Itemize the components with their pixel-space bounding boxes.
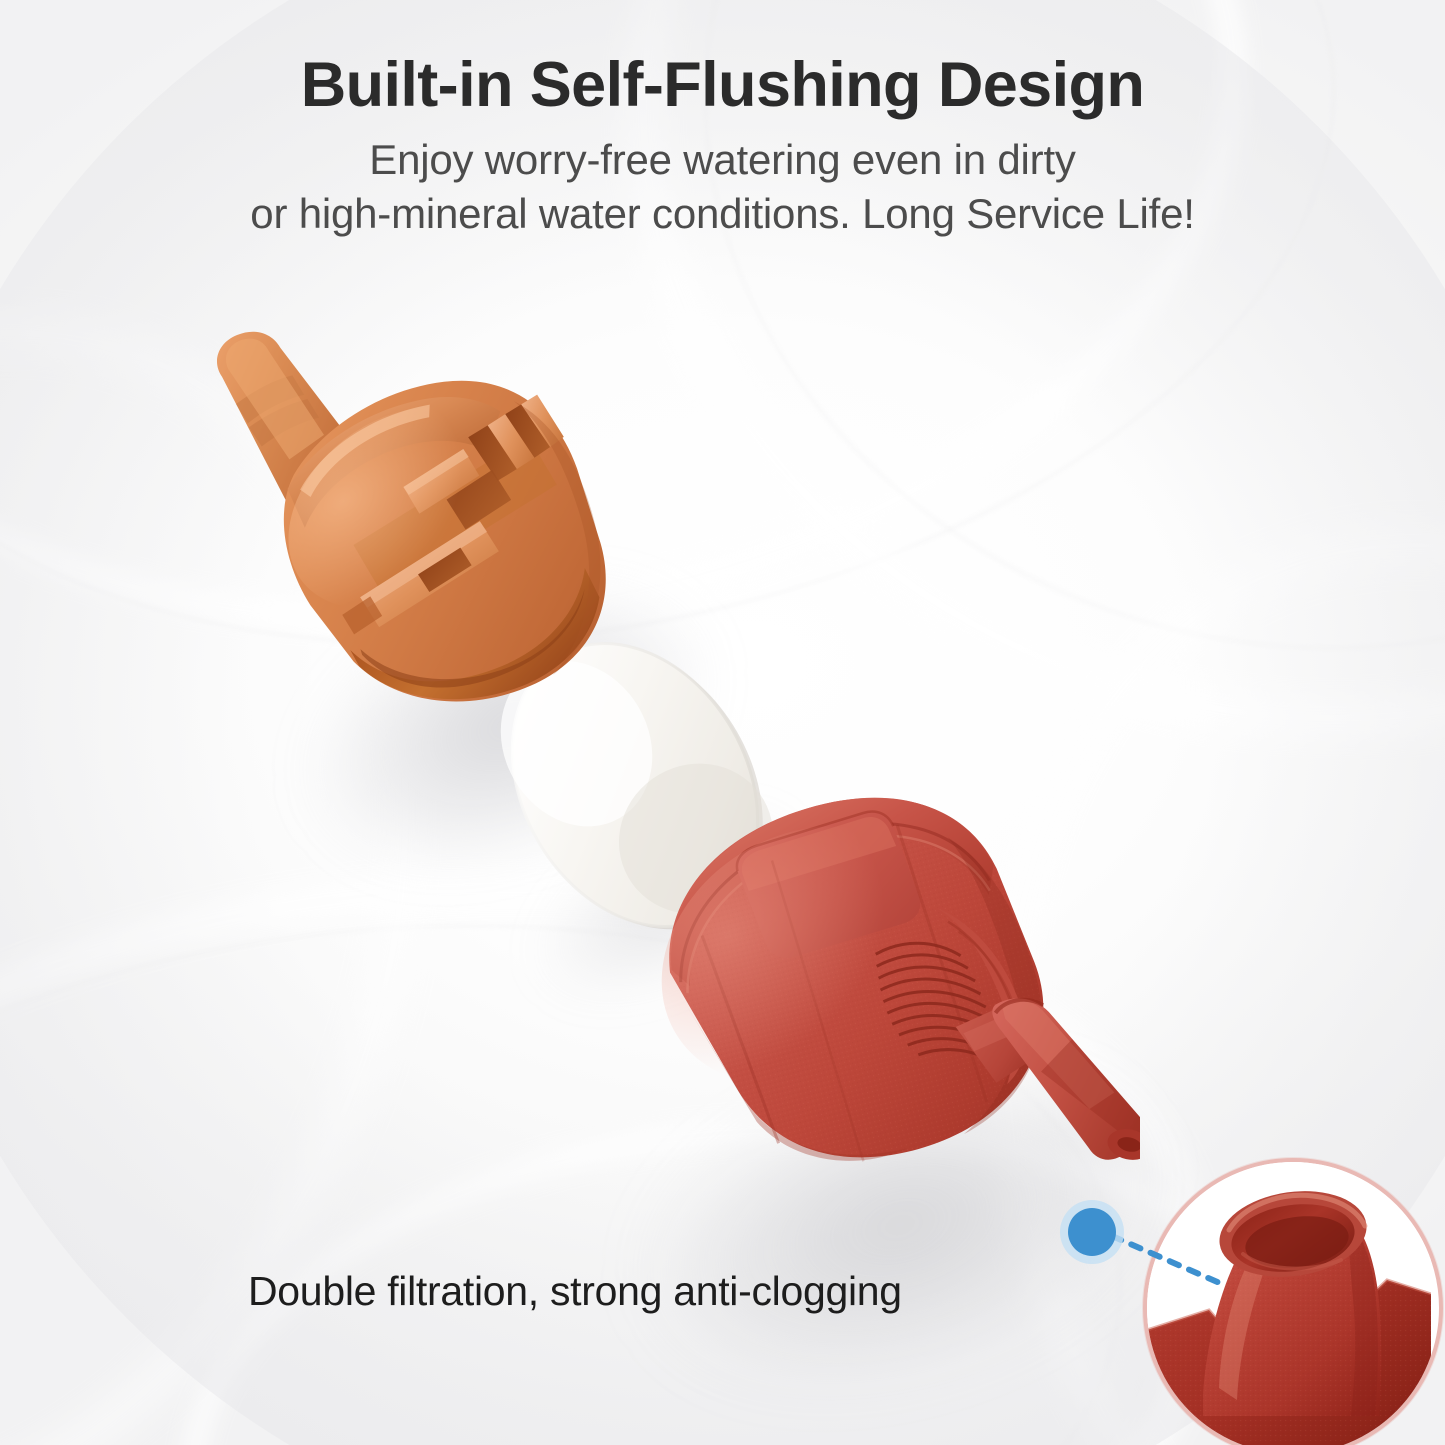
orange-emitter-cap (150, 280, 630, 760)
magnifier-content (1147, 1162, 1431, 1445)
orange-emitter-cap-graphic (150, 280, 630, 760)
caption-text: Double filtration, strong anti-clogging (248, 1268, 902, 1315)
marker-core (1068, 1208, 1116, 1256)
red-emitter-body (580, 715, 1140, 1285)
subtitle-line-2: or high-mineral water conditions. Long S… (0, 187, 1445, 242)
nozzle-tip-marker (1060, 1200, 1124, 1264)
nozzle-tip-magnifier (1143, 1158, 1443, 1445)
red-emitter-body-graphic (580, 715, 1140, 1285)
dashed-line-graphic (1110, 1232, 1230, 1292)
callout-connector-line (1110, 1232, 1230, 1292)
product-feature-image: Built-in Self-Flushing Design Enjoy worr… (0, 0, 1445, 1445)
subtitle-line-1: Enjoy worry-free watering even in dirty (0, 133, 1445, 188)
page-title: Built-in Self-Flushing Design (0, 52, 1445, 119)
header-text-block: Built-in Self-Flushing Design Enjoy worr… (0, 52, 1445, 242)
